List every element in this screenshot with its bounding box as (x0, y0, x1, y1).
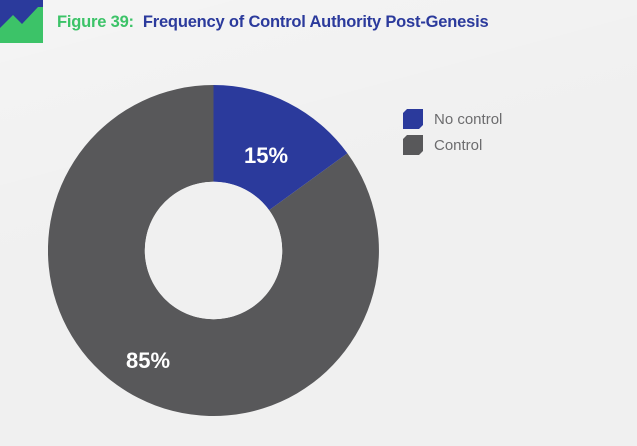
legend-swatch-icon (403, 109, 423, 129)
figure-number-label: Figure 39: (57, 13, 134, 31)
donut-chart: 15% 85% (48, 85, 379, 416)
chart-legend: No control Control (403, 107, 603, 159)
slice-label-no-control: 15% (244, 143, 288, 168)
legend-swatch-icon (403, 135, 423, 155)
legend-label-no-control: No control (434, 112, 502, 127)
donut-hole (145, 182, 282, 319)
legend-label-control: Control (434, 138, 482, 153)
legend-item-no-control[interactable]: No control (403, 107, 603, 131)
figure-title-label: Frequency of Control Authority Post-Gene… (143, 13, 489, 31)
page-title: Figure 39:Frequency of Control Authority… (57, 13, 488, 32)
slice-label-control: 85% (126, 348, 170, 373)
figure-header: Figure 39:Frequency of Control Authority… (0, 0, 637, 52)
figure-page: Figure 39:Frequency of Control Authority… (0, 0, 637, 446)
chart-area: 15% 85% No control Control (0, 52, 637, 446)
area-chart-logo-icon (0, 0, 43, 43)
legend-item-control[interactable]: Control (403, 133, 603, 157)
